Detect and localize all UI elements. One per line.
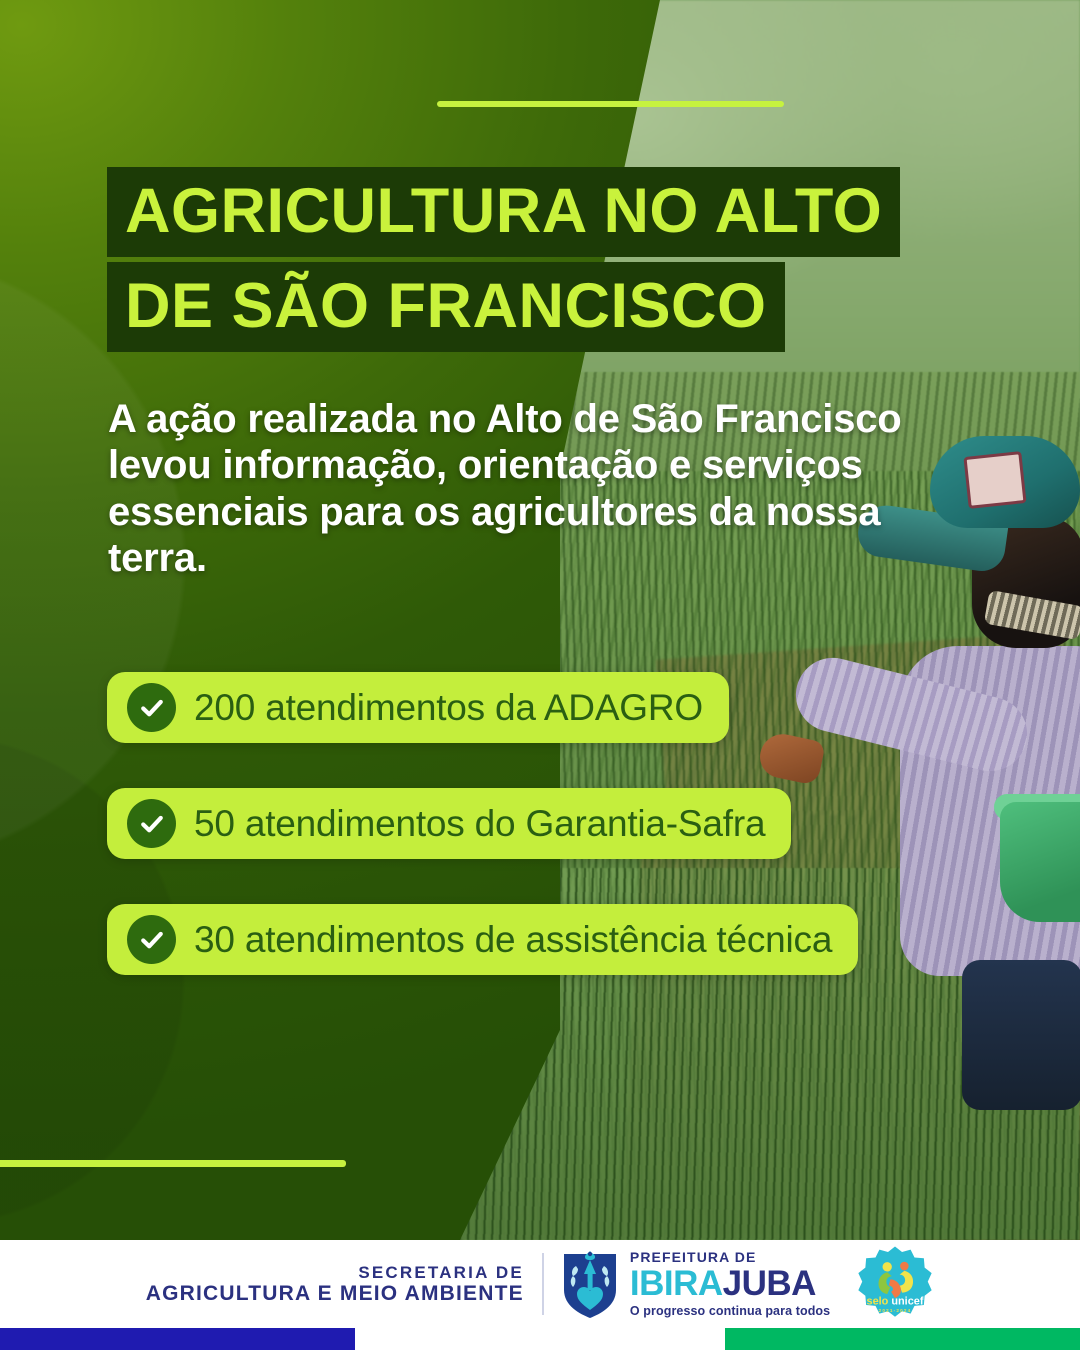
bar-segment-white [355, 1328, 725, 1350]
bottom-color-bar [0, 1328, 1080, 1350]
secretaria-logo: SECRETARIA DE AGRICULTURA E MEIO AMBIENT… [146, 1263, 542, 1306]
poster-canvas: AGRICULTURA NO ALTO DE SÃO FRANCISCO A a… [0, 0, 1080, 1350]
bottom-accent-rule [0, 1160, 346, 1167]
selo-unicef-badge-icon: selo unicef 2021-2024 [856, 1245, 934, 1323]
title-line-2: DE SÃO FRANCISCO [107, 262, 785, 352]
ibirajuba-coat-of-arms-icon [560, 1248, 620, 1320]
top-accent-rule [437, 101, 784, 107]
check-icon [127, 799, 176, 848]
body-paragraph: A ação realizada no Alto de São Francisc… [108, 396, 968, 582]
list-item-label: 200 atendimentos da ADAGRO [194, 687, 703, 729]
bar-segment-blue [0, 1328, 355, 1350]
page-title: AGRICULTURA NO ALTO DE SÃO FRANCISCO [107, 167, 900, 352]
list-item-label: 30 atendimentos de assistência técnica [194, 919, 832, 961]
prefeitura-tagline: O progresso continua para todos [630, 1305, 830, 1318]
title-line-1: AGRICULTURA NO ALTO [107, 167, 900, 257]
secretaria-line-1: SECRETARIA DE [146, 1263, 524, 1282]
prefeitura-logo: PREFEITURA DE IBIRAJUBA O progresso cont… [630, 1250, 830, 1318]
unicef-years: 2021-2024 [879, 1308, 912, 1313]
prefeitura-name-part-1: IBIRA [630, 1264, 723, 1303]
check-icon [127, 915, 176, 964]
prefeitura-name: IBIRAJUBA [630, 1266, 830, 1303]
list-item-label: 50 atendimentos do Garantia-Safra [194, 803, 765, 845]
list-item: 50 atendimentos do Garantia-Safra [107, 788, 791, 859]
footer-divider [542, 1253, 544, 1315]
farmer-leg [962, 960, 1080, 1110]
list-item: 30 atendimentos de assistência técnica [107, 904, 858, 975]
farmer-bucket [1000, 802, 1080, 922]
farmer-cap-patch [963, 451, 1026, 509]
list-item: 200 atendimentos da ADAGRO [107, 672, 729, 743]
secretaria-line-2: AGRICULTURA E MEIO AMBIENTE [146, 1282, 524, 1306]
footer-logo-bar: SECRETARIA DE AGRICULTURA E MEIO AMBIENT… [0, 1240, 1080, 1328]
check-icon [127, 683, 176, 732]
prefeitura-eyebrow: PREFEITURA DE [630, 1250, 830, 1265]
highlight-list: 200 atendimentos da ADAGRO 50 atendiment… [107, 672, 858, 1020]
bar-segment-green [725, 1328, 1080, 1350]
unicef-selo-word: selo unicef [867, 1295, 924, 1307]
prefeitura-name-part-2: JUBA [723, 1264, 816, 1303]
